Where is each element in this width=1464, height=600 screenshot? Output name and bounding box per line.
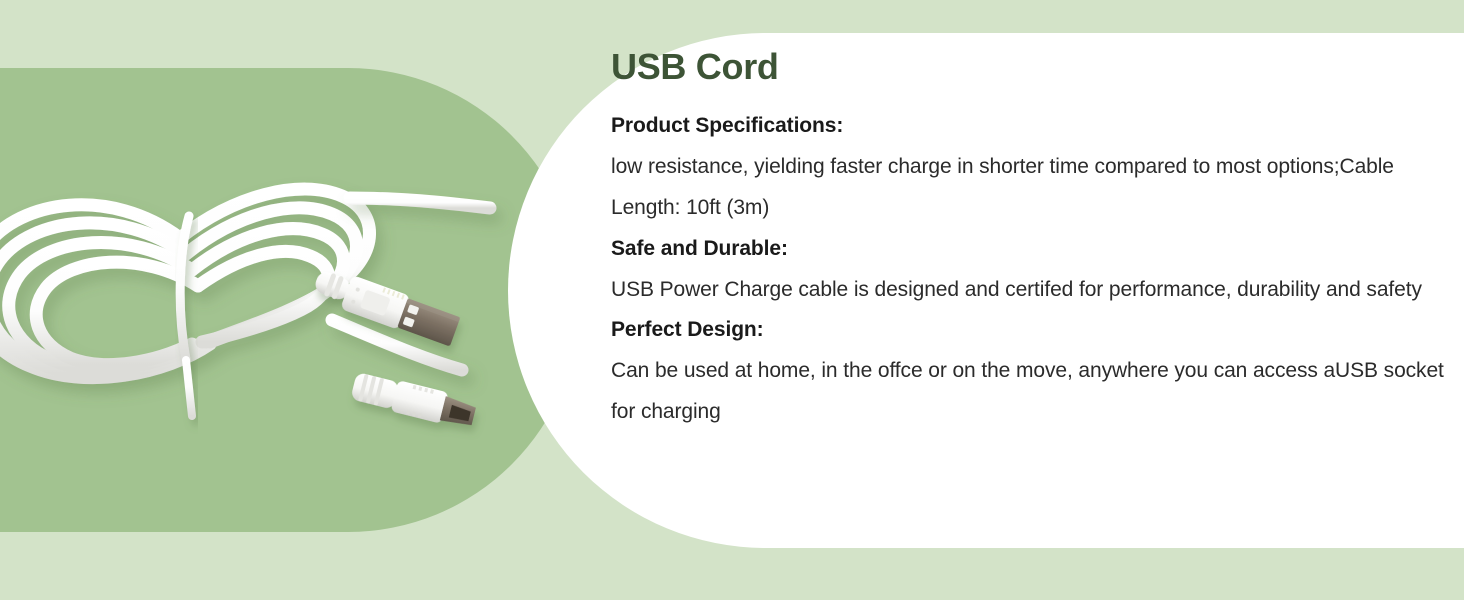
feature-block: Product Specifications: low resistance, …	[611, 106, 1451, 229]
feature-body: Can be used at home, in the offce or on …	[611, 351, 1451, 433]
product-banner: USB Cord Product Specifications: low res…	[0, 0, 1464, 600]
feature-heading: Perfect Design:	[611, 310, 1451, 351]
feature-body: low resistance, yielding faster charge i…	[611, 147, 1451, 229]
usb-cable-icon	[0, 68, 580, 532]
feature-heading: Safe and Durable:	[611, 229, 1451, 270]
page-title: USB Cord	[611, 48, 1451, 86]
feature-block: Perfect Design: Can be used at home, in …	[611, 310, 1451, 433]
feature-block: Safe and Durable: USB Power Charge cable…	[611, 229, 1451, 311]
feature-heading: Product Specifications:	[611, 106, 1451, 147]
feature-body: USB Power Charge cable is designed and c…	[611, 270, 1451, 311]
product-image-panel	[0, 68, 580, 532]
product-info: USB Cord Product Specifications: low res…	[611, 48, 1451, 433]
